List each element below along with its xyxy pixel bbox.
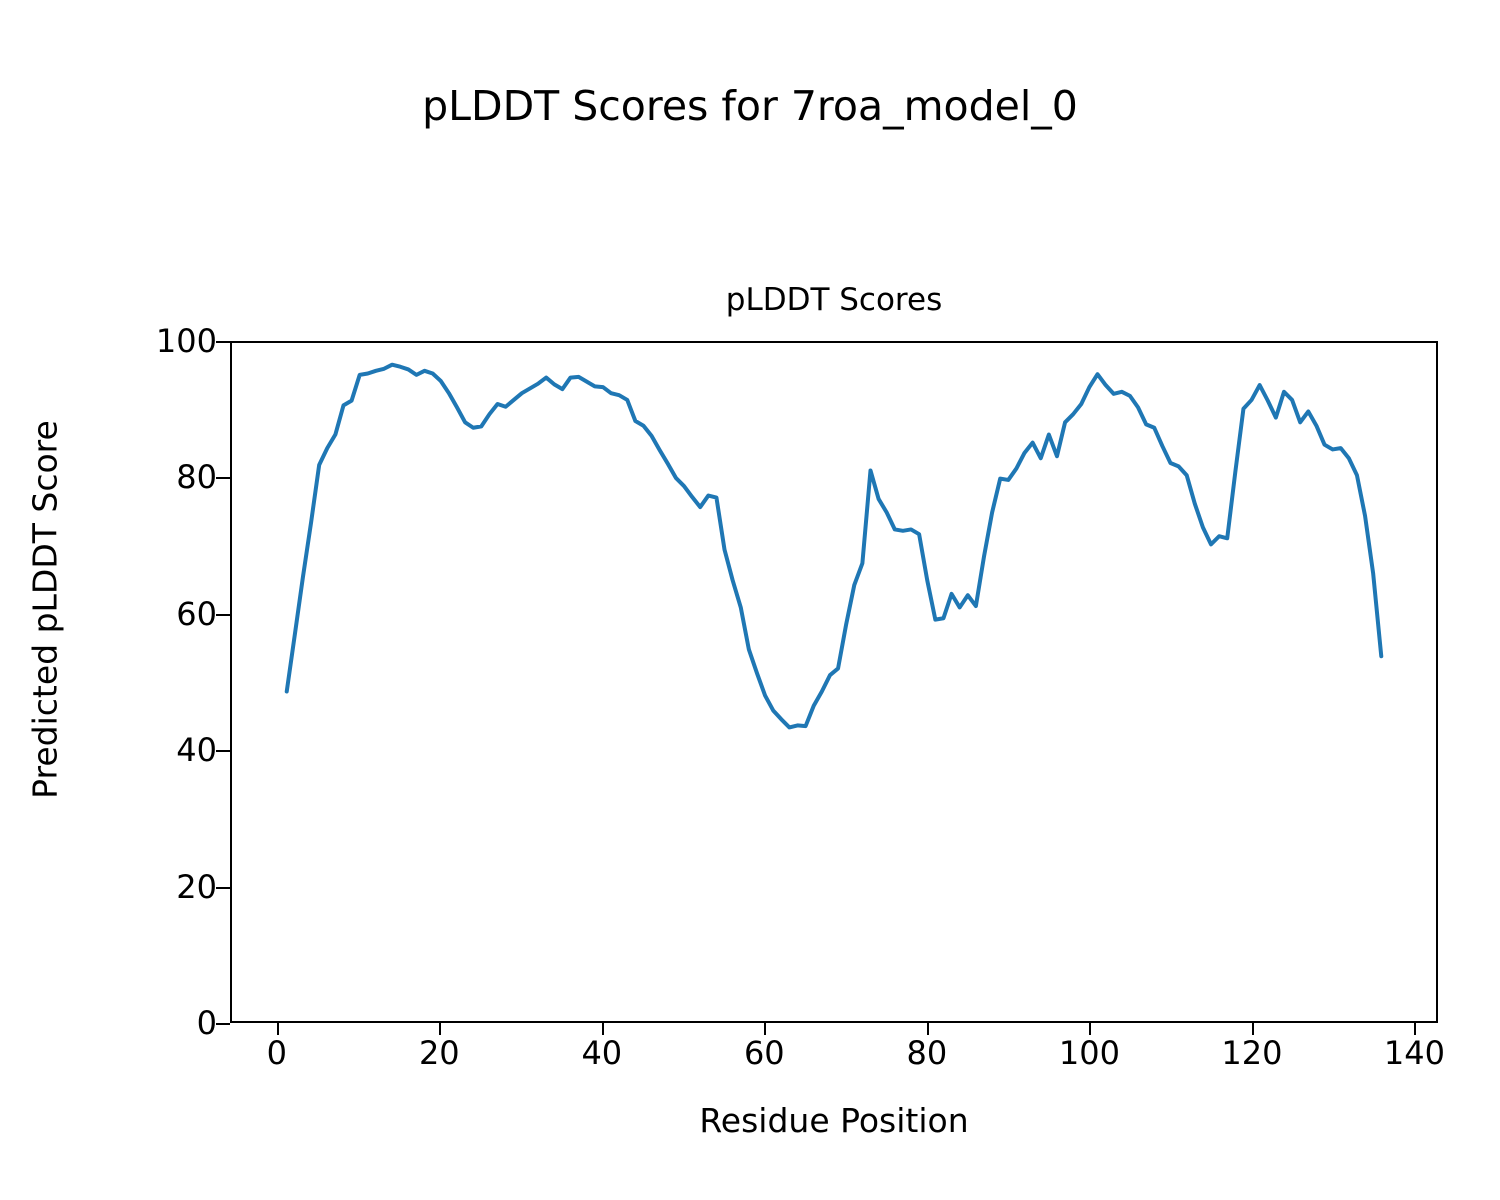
- plot-area: [230, 341, 1438, 1023]
- x-tick-mark: [602, 1021, 604, 1035]
- y-tick-mark: [216, 887, 230, 889]
- y-tick-mark: [216, 1023, 230, 1025]
- axes-title: pLDDT Scores: [230, 282, 1438, 318]
- y-axis-label: Predicted pLDDT Score: [26, 330, 65, 890]
- x-tick-mark: [277, 1021, 279, 1035]
- x-tick-label: 100: [1019, 1037, 1159, 1069]
- x-tick-mark: [1414, 1021, 1416, 1035]
- x-tick-mark: [764, 1021, 766, 1035]
- x-tick-label: 140: [1344, 1037, 1484, 1069]
- y-tick-mark: [216, 614, 230, 616]
- x-tick-mark: [439, 1021, 441, 1035]
- x-tick-label: 80: [857, 1037, 997, 1069]
- plot-canvas: [232, 343, 1436, 1021]
- y-tick-label: 80: [97, 461, 217, 493]
- x-axis-label: Residue Position: [230, 1101, 1438, 1140]
- y-tick-label: 40: [97, 734, 217, 766]
- x-tick-label: 0: [207, 1037, 347, 1069]
- y-tick-mark: [216, 750, 230, 752]
- y-tick-label: 20: [97, 871, 217, 903]
- x-tick-label: 20: [369, 1037, 509, 1069]
- plddt-line-series: [287, 365, 1382, 728]
- chart-figure: pLDDT Scores for 7roa_model_0 pLDDT Scor…: [0, 0, 1500, 1200]
- x-tick-label: 60: [694, 1037, 834, 1069]
- x-tick-mark: [927, 1021, 929, 1035]
- y-tick-mark: [216, 341, 230, 343]
- y-tick-mark: [216, 477, 230, 479]
- y-tick-label: 100: [97, 325, 217, 357]
- x-tick-mark: [1252, 1021, 1254, 1035]
- x-tick-label: 40: [532, 1037, 672, 1069]
- figure-suptitle: pLDDT Scores for 7roa_model_0: [0, 86, 1500, 127]
- x-tick-label: 120: [1182, 1037, 1322, 1069]
- y-tick-label: 60: [97, 598, 217, 630]
- y-tick-label: 0: [97, 1007, 217, 1039]
- x-tick-mark: [1089, 1021, 1091, 1035]
